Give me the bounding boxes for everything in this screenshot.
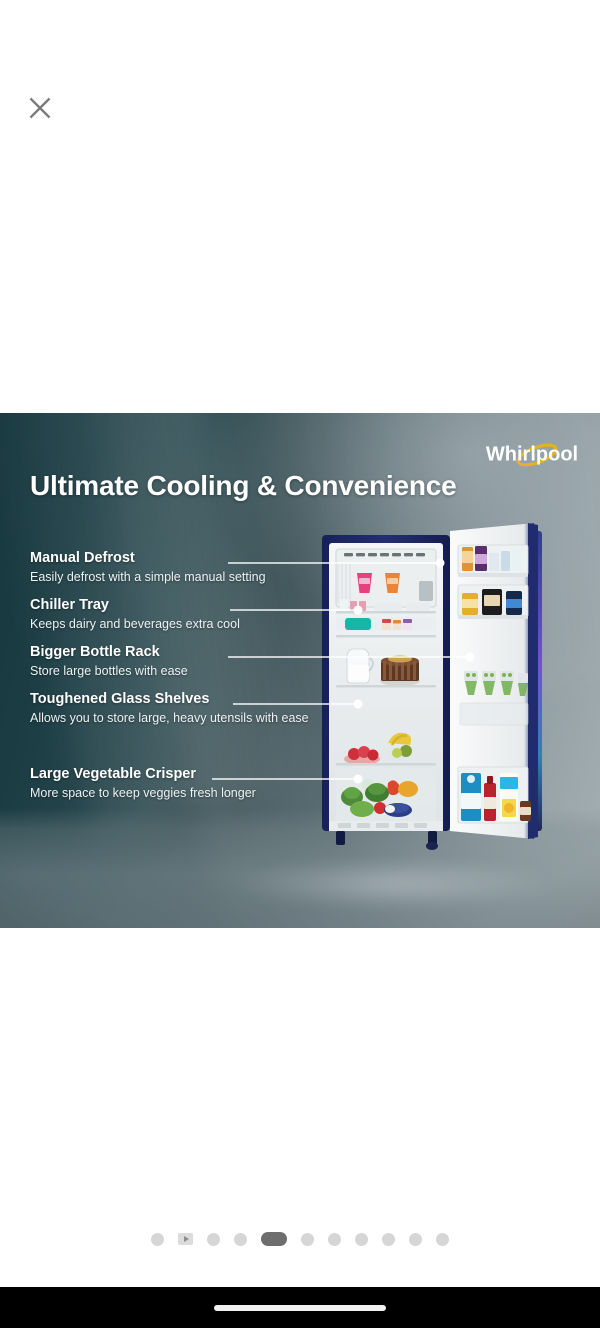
carousel-pagination[interactable]: [0, 1232, 600, 1246]
system-navigation-bar: [0, 1287, 600, 1328]
play-icon: [184, 1236, 189, 1242]
image-gallery-viewer: Whirlpool Ultimate Cooling & Convenience: [0, 0, 600, 1328]
pagination-dot[interactable]: [355, 1233, 368, 1246]
pagination-dot[interactable]: [328, 1233, 341, 1246]
product-feature-banner[interactable]: Whirlpool Ultimate Cooling & Convenience: [0, 413, 600, 928]
feature-title: Toughened Glass Shelves: [30, 690, 360, 708]
whirlpool-wordmark: Whirlpool: [486, 443, 578, 465]
feature-title: Manual Defrost: [30, 549, 360, 567]
feature-description: Store large bottles with ease: [30, 663, 360, 679]
pagination-dot[interactable]: [151, 1233, 164, 1246]
feature-description: Keeps dairy and beverages extra cool: [30, 616, 360, 632]
pagination-dot[interactable]: [301, 1233, 314, 1246]
pagination-dot-active[interactable]: [261, 1232, 287, 1246]
refrigerator-product-image: [322, 521, 587, 881]
close-button[interactable]: [18, 86, 62, 130]
feature-description: Easily defrost with a simple manual sett…: [30, 569, 360, 585]
feature-item: Manual Defrost Easily defrost with a sim…: [30, 549, 360, 585]
pagination-video-indicator[interactable]: [178, 1233, 193, 1245]
pagination-dot[interactable]: [409, 1233, 422, 1246]
feature-title: Large Vegetable Crisper: [30, 765, 360, 783]
feature-description: More space to keep veggies fresh longer: [30, 785, 360, 801]
whirlpool-logo: Whirlpool: [478, 433, 586, 475]
banner-headline: Ultimate Cooling & Convenience: [30, 470, 457, 502]
feature-item: Large Vegetable Crisper More space to ke…: [30, 765, 360, 801]
pagination-dot[interactable]: [382, 1233, 395, 1246]
close-icon: [27, 95, 53, 121]
feature-item: Chiller Tray Keeps dairy and beverages e…: [30, 596, 360, 632]
pagination-dot[interactable]: [234, 1233, 247, 1246]
pagination-dot[interactable]: [207, 1233, 220, 1246]
pagination-dot[interactable]: [436, 1233, 449, 1246]
feature-description: Allows you to store large, heavy utensil…: [30, 710, 360, 726]
feature-item: Toughened Glass Shelves Allows you to st…: [30, 690, 360, 726]
feature-item: Bigger Bottle Rack Store large bottles w…: [30, 643, 360, 679]
feature-title: Chiller Tray: [30, 596, 360, 614]
home-indicator[interactable]: [214, 1305, 386, 1311]
feature-title: Bigger Bottle Rack: [30, 643, 360, 661]
